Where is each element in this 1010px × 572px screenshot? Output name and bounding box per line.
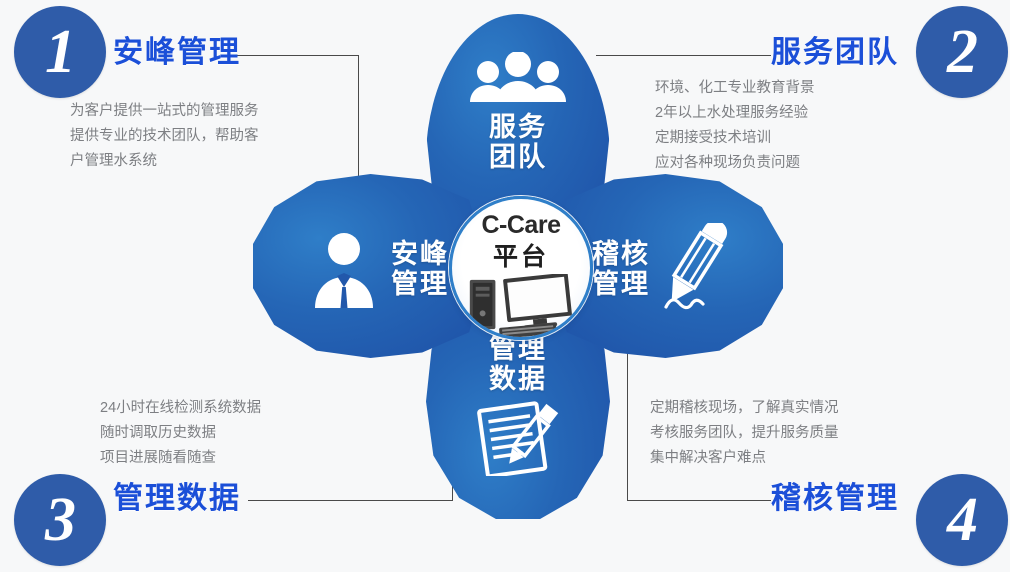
petal-label-line: 安峰 — [391, 239, 449, 269]
section-title-service-team: 服务团队 — [771, 27, 899, 71]
petal-anfeng-management-label: 安峰 管理 — [391, 239, 449, 299]
petal-management-data-content: 管理 数据 — [426, 334, 610, 509]
section-title-audit-management: 稽核管理 — [771, 473, 899, 517]
clipboard-pencil-icon — [473, 400, 563, 476]
body-line: 户管理水系统 — [70, 149, 259, 174]
section-badge-4: 4 — [916, 474, 1008, 566]
section-title-management-data: 管理数据 — [113, 473, 241, 517]
petal-service-team-label: 服务 团队 — [489, 112, 547, 172]
petal-label-line: 服务 — [489, 112, 547, 142]
section-title-anfeng-management: 安峰管理 — [113, 27, 241, 71]
petal-label-line: 数据 — [489, 364, 547, 394]
petal-management-data-label: 管理 数据 — [489, 334, 547, 394]
desktop-computer-icon — [465, 274, 577, 337]
body-line: 提供专业的技术团队，帮助客 — [70, 124, 259, 149]
body-line: 随时调取历史数据 — [100, 421, 261, 446]
section-badge-3: 3 — [14, 474, 106, 566]
hub-chinese-title: 平台 — [493, 237, 549, 273]
petal-audit-management-label: 稽核 管理 — [592, 239, 650, 299]
petal-service-team-content: 服务 团队 — [426, 52, 610, 212]
hub-english-title: C-Care — [482, 211, 561, 240]
petal-label-line: 管理 — [391, 269, 449, 299]
section-body-management-data: 24小时在线检测系统数据 随时调取历史数据 项目进展随看随查 — [100, 396, 261, 471]
badge-number: 1 — [45, 21, 75, 83]
three-people-group-icon — [466, 52, 570, 102]
pencil-signature-icon — [658, 223, 734, 315]
body-line: 项目进展随看随查 — [100, 446, 261, 471]
petal-label-line: 稽核 — [592, 239, 650, 269]
section-badge-2: 2 — [916, 6, 1008, 98]
body-line: 24小时在线检测系统数据 — [100, 396, 261, 421]
section-body-anfeng-management: 为客户提供一站式的管理服务 提供专业的技术团队，帮助客 户管理水系统 — [70, 99, 259, 174]
badge-number: 3 — [45, 489, 75, 551]
petal-label-line: 团队 — [489, 142, 547, 172]
businessman-suit-tie-icon — [307, 230, 381, 308]
petal-diagram: 服务 团队 管理 数据 — [253, 14, 783, 519]
badge-number: 4 — [947, 489, 977, 551]
body-line: 为客户提供一站式的管理服务 — [70, 99, 259, 124]
petal-label-line: 管理 — [592, 269, 650, 299]
infographic-canvas: 1 2 3 4 安峰管理 服务团队 管理数据 稽核管理 为客户提供一站式的管理服… — [0, 0, 1010, 572]
badge-number: 2 — [947, 21, 977, 83]
section-badge-1: 1 — [14, 6, 106, 98]
center-hub-c-care-platform[interactable]: C-Care 平台 — [449, 196, 593, 340]
